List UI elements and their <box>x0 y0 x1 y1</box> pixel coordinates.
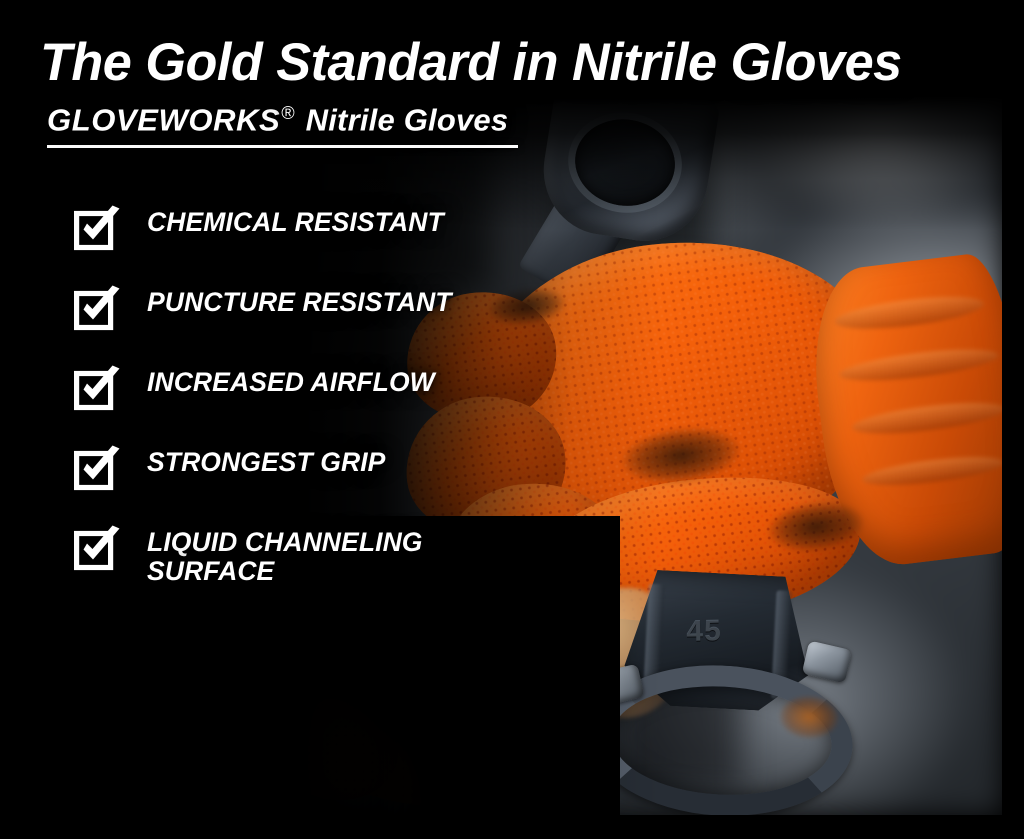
feature-item-puncture-resistant: PUNCTURE RESISTANT <box>74 280 494 332</box>
feature-list: CHEMICAL RESISTANT PUNCTURE RESISTANT <box>74 200 494 586</box>
checkbox-checked-icon <box>74 204 122 252</box>
subheadline: GLOVEWORKS® Nitrile Gloves <box>47 104 518 137</box>
bottom-black-border <box>0 815 1024 839</box>
page-title: The Gold Standard in Nitrile Gloves <box>40 36 970 89</box>
checkbox-checked-icon <box>74 444 122 492</box>
subheadline-block: GLOVEWORKS® Nitrile Gloves <box>47 104 518 148</box>
feature-item-strongest-grip: STRONGEST GRIP <box>74 440 494 492</box>
right-black-border <box>1002 0 1024 839</box>
subheadline-underline <box>47 145 518 148</box>
feature-label: CHEMICAL RESISTANT <box>147 200 444 237</box>
registered-trademark-icon: ® <box>280 103 296 123</box>
feature-item-chemical-resistant: CHEMICAL RESISTANT <box>74 200 494 252</box>
text-overlay: The Gold Standard in Nitrile Gloves GLOV… <box>0 0 1024 839</box>
checkbox-checked-icon <box>74 524 122 572</box>
product-name: Nitrile Gloves <box>306 102 509 137</box>
feature-label: INCREASED AIRFLOW <box>147 360 435 397</box>
feature-item-increased-airflow: INCREASED AIRFLOW <box>74 360 494 412</box>
brand-name: GLOVEWORKS <box>47 102 280 137</box>
feature-label: STRONGEST GRIP <box>147 440 385 477</box>
feature-label-line2: SURFACE <box>147 557 423 586</box>
feature-item-liquid-channeling-surface: LIQUID CHANNELINGSURFACE <box>74 520 494 586</box>
advertisement-canvas: 45 The Gold Standard in N <box>0 0 1024 839</box>
feature-label: LIQUID CHANNELINGSURFACE <box>147 520 423 586</box>
checkbox-checked-icon <box>74 284 122 332</box>
checkbox-checked-icon <box>74 364 122 412</box>
feature-label: PUNCTURE RESISTANT <box>147 280 452 317</box>
